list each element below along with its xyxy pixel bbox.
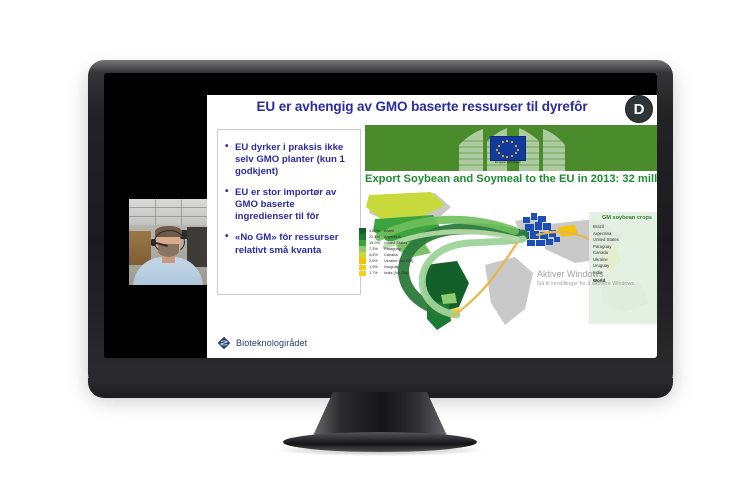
legend-swatch-paraguay: [359, 246, 366, 252]
legend-label: India (No GM): [384, 271, 408, 275]
crops-panel-title: GM soybean crops: [593, 215, 657, 221]
bullet-text-box: EU dyrker i praksis ikke selv GMO plante…: [217, 129, 361, 295]
legend-value: 7,3%: [369, 247, 384, 251]
dark-doorway: [187, 227, 207, 267]
legend-label: Uruguay: [384, 265, 399, 269]
legend-item: 22,4% Argentina: [359, 234, 441, 240]
legend-value: 41,0%: [369, 229, 384, 233]
slide-title: EU er avhengig av GMO baserte ressurser …: [207, 99, 637, 114]
gm-soybean-crops-panel: GM soybean crops Brazil Argentina United…: [589, 212, 657, 324]
legend-value: 4,4%: [369, 253, 384, 257]
list-item: «No GM» fôr ressurser relativt små kvant…: [224, 232, 354, 256]
monitor-bezel: EU er avhengig av GMO baserte ressurser …: [88, 60, 673, 390]
ceiling: [129, 199, 207, 225]
legend-label: Argentina: [384, 235, 401, 239]
participant-video-panel[interactable]: [129, 73, 207, 358]
legend-swatch-united-states: [359, 240, 366, 246]
bezel-gloss: [88, 60, 673, 72]
webcam-feed: [129, 199, 207, 285]
logo-text: Bioteknologirådet: [236, 338, 307, 348]
legend-label: United States: [384, 241, 407, 245]
legend-value: 2,6%: [369, 259, 384, 263]
legend-value: 1,7%: [369, 271, 384, 275]
legend-label: Paraguay: [384, 247, 401, 251]
table-row-total: World: [593, 278, 657, 285]
legend-label: Brazil: [384, 229, 394, 233]
eu-commission-header: European Commission: [365, 125, 657, 171]
list-item: EU er stor importør av GMO baserte ingre…: [224, 187, 354, 223]
crops-country: India: [593, 270, 602, 277]
crops-total-label: World: [593, 278, 605, 285]
bullet-list: EU dyrker i praksis ikke selv GMO plante…: [224, 142, 354, 257]
presenter-avatar-badge[interactable]: D: [625, 95, 653, 123]
bioteknologiradet-logo-icon: [217, 336, 231, 350]
legend-value: 15,0%: [369, 241, 384, 245]
table-row: India: [593, 270, 657, 277]
legend-label: Canada: [384, 253, 398, 257]
legend-swatch-brazil: [359, 228, 366, 234]
map-legend: 41,0% Brazil 22,4% Argentina 15,0% Unite…: [359, 228, 441, 277]
legend-item: 15,0% United States: [359, 240, 441, 246]
eu-flag-icon: [490, 136, 526, 161]
eu-emblem-caption: European Commission: [475, 161, 541, 165]
organization-logo: Bioteknologirådet: [217, 336, 307, 350]
legend-swatch-india: [359, 271, 366, 277]
presentation-slide[interactable]: EU er avhengig av GMO baserte ressurser …: [207, 73, 657, 358]
legend-swatch-argentina: [359, 234, 366, 240]
legend-swatch-canada: [359, 252, 366, 258]
list-item: EU dyrker i praksis ikke selv GMO plante…: [224, 142, 354, 178]
slide-top-band: [207, 73, 657, 95]
stand-shadow: [276, 444, 484, 456]
monitor-screen: EU er avhengig av GMO baserte ressurser …: [104, 73, 657, 358]
chart-title: Export Soybean and Soymeal to the EU in …: [365, 173, 657, 185]
legend-value: 1,9%: [369, 265, 384, 269]
legend-label: Ukraine (No GM): [384, 259, 413, 263]
legend-swatch-uruguay: [359, 265, 366, 271]
legend-item: 1,7% India (No GM): [359, 271, 441, 277]
legend-swatch-ukraine: [359, 258, 366, 264]
legend-item: 41,0% Brazil: [359, 228, 441, 234]
scene-root: EU er avhengig av GMO baserte ressurser …: [0, 0, 750, 500]
legend-value: 22,4%: [369, 235, 384, 239]
screen-content: EU er avhengig av GMO baserte ressurser …: [104, 73, 657, 358]
